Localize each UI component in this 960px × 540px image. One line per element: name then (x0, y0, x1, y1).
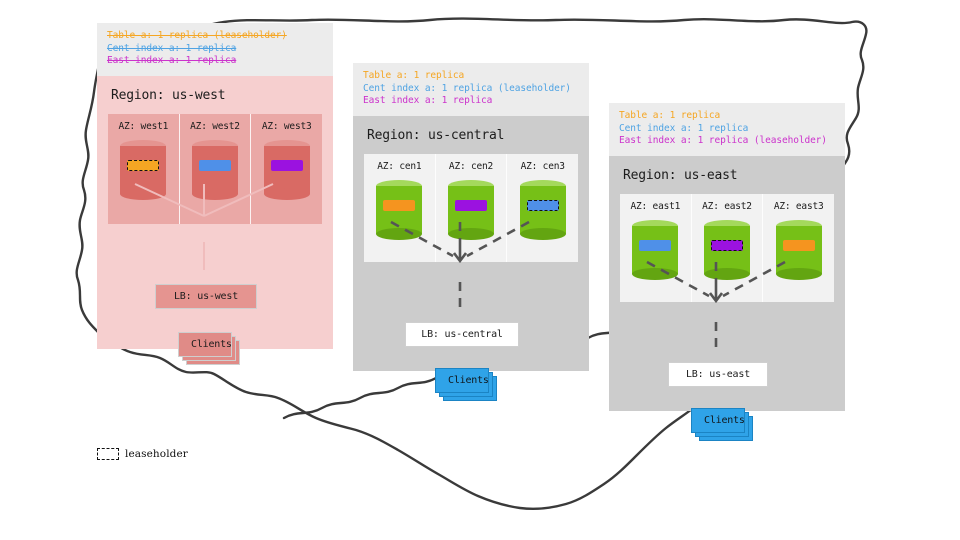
node-cylinder[interactable] (448, 180, 494, 240)
az-cen1[interactable]: AZ: cen1 (364, 154, 435, 262)
replica-bar-east-index-a (455, 200, 487, 211)
az-label: AZ: west3 (255, 121, 318, 132)
replica-line-table-a: Table a: 1 replica (363, 70, 579, 83)
cylinder-bottom (704, 268, 750, 280)
az-cen2[interactable]: AZ: cen2 (435, 154, 507, 262)
node-cylinder[interactable] (776, 220, 822, 280)
node-cylinder[interactable] (632, 220, 678, 280)
node-cylinder[interactable] (376, 180, 422, 240)
replica-line-cent-index-a: Cent index a: 1 replica (leaseholder) (363, 83, 579, 96)
az-east1[interactable]: AZ: east1 (620, 194, 691, 302)
replica-line-east-index-a: East index a: 1 replica (363, 95, 579, 108)
replica-bar-cent-index-a (199, 160, 231, 171)
clients-stack-us-central[interactable]: Clients (435, 368, 495, 393)
replica-summary-us-central: Table a: 1 replica Cent index a: 1 repli… (353, 63, 589, 116)
replica-summary-us-east: Table a: 1 replica Cent index a: 1 repli… (609, 103, 845, 156)
replica-bar-east-index-a (711, 240, 743, 251)
node-cylinder[interactable] (120, 140, 166, 200)
replica-line-east-index-a: East index a: 1 replica (leaseholder) (619, 135, 835, 148)
az-label: AZ: cen1 (368, 161, 431, 172)
replica-line-table-a: Table a: 1 replica (leaseholder) (107, 30, 323, 43)
cylinder-bottom (448, 228, 494, 240)
legend-label: leaseholder (125, 448, 188, 460)
region-title-us-central: Region: us-central (367, 128, 578, 143)
replica-bar-cent-index-a (639, 240, 671, 251)
az-label: AZ: west1 (112, 121, 175, 132)
cylinder-bottom (192, 188, 238, 200)
load-balancer-us-east[interactable]: LB: us-east (668, 362, 768, 387)
replica-bar-east-index-a (271, 160, 303, 171)
node-cylinder[interactable] (264, 140, 310, 200)
cylinder-bottom (520, 228, 566, 240)
replica-bar-cent-index-a (527, 200, 559, 211)
cylinder-bottom (120, 188, 166, 200)
replica-line-east-index-a: East index a: 1 replica (107, 55, 323, 68)
cylinder-bottom (776, 268, 822, 280)
replica-line-cent-index-a: Cent index a: 1 replica (107, 43, 323, 56)
az-label: AZ: east2 (696, 201, 759, 212)
cylinder-bottom (632, 268, 678, 280)
node-cylinder[interactable] (192, 140, 238, 200)
region-panel-us-central[interactable]: Table a: 1 replica Cent index a: 1 repli… (353, 63, 589, 371)
clients-stack-us-east[interactable]: Clients (691, 408, 751, 433)
region-panel-us-west[interactable]: Table a: 1 replica (leaseholder) Cent in… (97, 23, 333, 349)
replica-line-cent-index-a: Cent index a: 1 replica (619, 123, 835, 136)
az-label: AZ: cen3 (511, 161, 574, 172)
region-title-us-west: Region: us-west (111, 88, 322, 103)
cylinder-bottom (264, 188, 310, 200)
node-cylinder[interactable] (520, 180, 566, 240)
load-balancer-us-central[interactable]: LB: us-central (405, 322, 519, 347)
diagram-canvas: Table a: 1 replica (leaseholder) Cent in… (0, 0, 960, 540)
clients-stack-us-west[interactable]: Clients (178, 332, 238, 357)
az-label: AZ: east1 (624, 201, 687, 212)
az-east3[interactable]: AZ: east3 (762, 194, 834, 302)
az-label: AZ: west2 (184, 121, 247, 132)
node-cylinder[interactable] (704, 220, 750, 280)
load-balancer-us-west[interactable]: LB: us-west (155, 284, 257, 309)
az-label: AZ: east3 (767, 201, 830, 212)
region-title-us-east: Region: us-east (623, 168, 834, 183)
region-panel-us-east[interactable]: Table a: 1 replica Cent index a: 1 repli… (609, 103, 845, 411)
clients-box[interactable]: Clients (435, 368, 489, 393)
az-strip-us-west: AZ: west1 AZ: west2 (108, 114, 322, 224)
cylinder-bottom (376, 228, 422, 240)
dashed-rect-icon (97, 448, 119, 460)
az-west2[interactable]: AZ: west2 (179, 114, 251, 224)
replica-line-table-a: Table a: 1 replica (619, 110, 835, 123)
clients-box[interactable]: Clients (178, 332, 232, 357)
clients-box[interactable]: Clients (691, 408, 745, 433)
az-east2[interactable]: AZ: east2 (691, 194, 763, 302)
legend: leaseholder (97, 448, 188, 460)
replica-summary-us-west: Table a: 1 replica (leaseholder) Cent in… (97, 23, 333, 76)
az-cen3[interactable]: AZ: cen3 (506, 154, 578, 262)
replica-bar-table-a (127, 160, 159, 171)
replica-bar-table-a (783, 240, 815, 251)
replica-bar-table-a (383, 200, 415, 211)
az-strip-us-central: AZ: cen1 AZ: cen2 (364, 154, 578, 262)
az-strip-us-east: AZ: east1 AZ: east2 (620, 194, 834, 302)
az-west3[interactable]: AZ: west3 (250, 114, 322, 224)
az-label: AZ: cen2 (440, 161, 503, 172)
az-west1[interactable]: AZ: west1 (108, 114, 179, 224)
